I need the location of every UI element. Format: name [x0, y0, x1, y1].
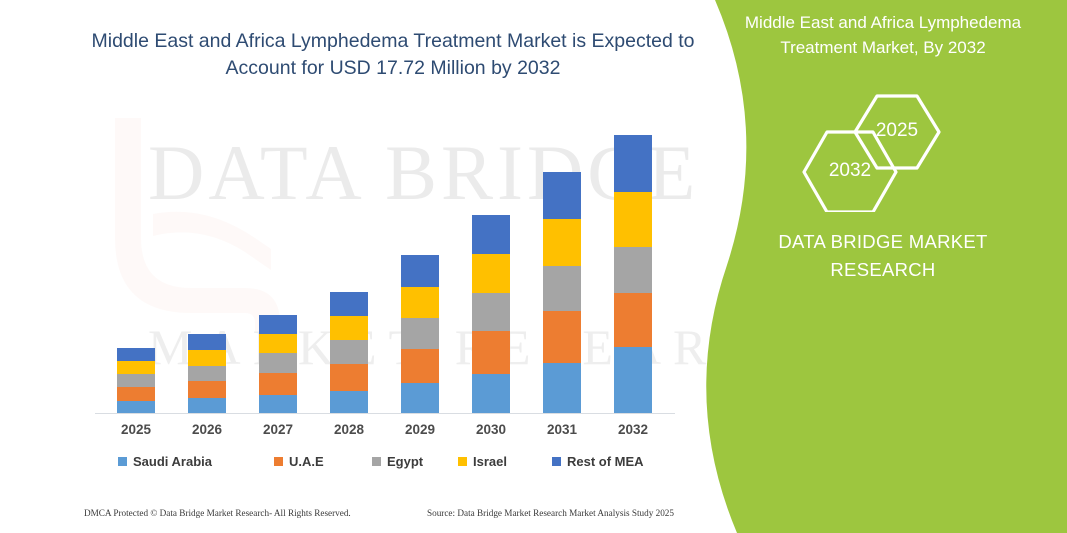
bar-segment-israel-2031 [543, 219, 581, 266]
x-axis-label-2027: 2027 [248, 422, 308, 437]
bar-segment-rest-of-mea-2031 [543, 172, 581, 219]
bar-segment-saudi-arabia-2029 [401, 383, 439, 413]
legend-swatch-icon [118, 457, 127, 466]
infographic-canvas: DATA BRIDGE MARKET RESEARCH Middle East … [0, 0, 1067, 533]
x-axis-label-2030: 2030 [461, 422, 521, 437]
bar-segment-egypt-2030 [472, 293, 510, 331]
hexagon-label-2025: 2025 [857, 120, 937, 142]
legend-item-saudi-arabia[interactable]: Saudi Arabia [118, 454, 212, 469]
bar-segment-israel-2032 [614, 192, 652, 247]
green-side-panel: Middle East and Africa Lymphedema Treatm… [667, 0, 1067, 533]
bar-segment-saudi-arabia-2031 [543, 363, 581, 413]
x-axis-label-2032: 2032 [603, 422, 663, 437]
bar-segment-rest-of-mea-2030 [472, 215, 510, 254]
bar-group-2031 [543, 172, 581, 413]
bar-segment-saudi-arabia-2027 [259, 395, 297, 413]
bar-segment-rest-of-mea-2026 [188, 334, 226, 350]
legend-swatch-icon [372, 457, 381, 466]
bar-group-2026 [188, 334, 226, 413]
bar-group-2032 [614, 135, 652, 413]
bar-segment-israel-2028 [330, 316, 368, 340]
legend-label: Rest of MEA [567, 454, 644, 469]
legend-item-u-a-e[interactable]: U.A.E [274, 454, 324, 469]
bar-segment-israel-2025 [117, 361, 155, 374]
legend-item-rest-of-mea[interactable]: Rest of MEA [552, 454, 644, 469]
green-panel-title: Middle East and Africa Lymphedema Treatm… [713, 10, 1053, 60]
chart-legend: Saudi ArabiaU.A.EEgyptIsraelRest of MEA [118, 454, 678, 474]
x-axis-label-2025: 2025 [106, 422, 166, 437]
bar-segment-saudi-arabia-2026 [188, 398, 226, 413]
bar-segment-saudi-arabia-2032 [614, 347, 652, 413]
bar-group-2029 [401, 255, 439, 413]
bar-segment-u-a-e-2031 [543, 311, 581, 363]
legend-label: Saudi Arabia [133, 454, 212, 469]
bar-segment-egypt-2028 [330, 340, 368, 364]
legend-label: U.A.E [289, 454, 324, 469]
bar-segment-egypt-2026 [188, 366, 226, 381]
hexagon-label-2032: 2032 [810, 160, 890, 182]
bar-segment-u-a-e-2025 [117, 387, 155, 401]
x-axis-labels: 20252026202720282029203020312032 [95, 422, 675, 444]
bar-segment-saudi-arabia-2030 [472, 374, 510, 413]
x-axis-line [95, 413, 675, 414]
legend-swatch-icon [274, 457, 283, 466]
legend-item-israel[interactable]: Israel [458, 454, 507, 469]
bar-segment-saudi-arabia-2025 [117, 401, 155, 413]
hexagon-group: 2025 2032 [777, 92, 967, 212]
hexagon-outlines-icon [777, 92, 967, 212]
bar-segment-israel-2030 [472, 254, 510, 293]
bar-segment-u-a-e-2030 [472, 331, 510, 374]
x-axis-label-2029: 2029 [390, 422, 450, 437]
bar-segment-u-a-e-2029 [401, 349, 439, 383]
bar-segment-u-a-e-2032 [614, 293, 652, 347]
bar-segment-u-a-e-2028 [330, 364, 368, 391]
bar-segment-rest-of-mea-2028 [330, 292, 368, 316]
bar-group-2025 [117, 348, 155, 413]
bar-segment-u-a-e-2027 [259, 373, 297, 395]
footer-copyright: DMCA Protected © Data Bridge Market Rese… [84, 508, 351, 518]
bar-group-2030 [472, 215, 510, 413]
legend-swatch-icon [552, 457, 561, 466]
bar-segment-israel-2026 [188, 350, 226, 366]
bar-segment-egypt-2025 [117, 374, 155, 387]
brand-line1: DATA BRIDGE MARKET [713, 228, 1053, 256]
bar-segment-egypt-2029 [401, 318, 439, 349]
brand-name: DATA BRIDGE MARKET RESEARCH [713, 228, 1053, 284]
bar-segment-rest-of-mea-2025 [117, 348, 155, 361]
bar-segment-israel-2029 [401, 287, 439, 318]
x-axis-label-2026: 2026 [177, 422, 237, 437]
brand-line2: RESEARCH [713, 256, 1053, 284]
bar-segment-egypt-2032 [614, 247, 652, 293]
chart-title: Middle East and Africa Lymphedema Treatm… [88, 28, 698, 82]
legend-label: Israel [473, 454, 507, 469]
bar-segment-rest-of-mea-2027 [259, 315, 297, 334]
bar-segment-rest-of-mea-2032 [614, 135, 652, 192]
bar-segment-egypt-2031 [543, 266, 581, 311]
legend-item-egypt[interactable]: Egypt [372, 454, 423, 469]
bar-segment-saudi-arabia-2028 [330, 391, 368, 413]
bar-group-2028 [330, 292, 368, 413]
bar-segment-egypt-2027 [259, 353, 297, 373]
bar-segment-rest-of-mea-2029 [401, 255, 439, 287]
legend-swatch-icon [458, 457, 467, 466]
bar-group-2027 [259, 315, 297, 413]
x-axis-label-2028: 2028 [319, 422, 379, 437]
bar-segment-u-a-e-2026 [188, 381, 226, 398]
legend-label: Egypt [387, 454, 423, 469]
chart-plot-area [95, 110, 680, 415]
footer: DMCA Protected © Data Bridge Market Rese… [84, 508, 684, 522]
x-axis-label-2031: 2031 [532, 422, 592, 437]
stacked-bars [95, 110, 680, 413]
bar-segment-israel-2027 [259, 334, 297, 353]
footer-source: Source: Data Bridge Market Research Mark… [427, 508, 674, 518]
